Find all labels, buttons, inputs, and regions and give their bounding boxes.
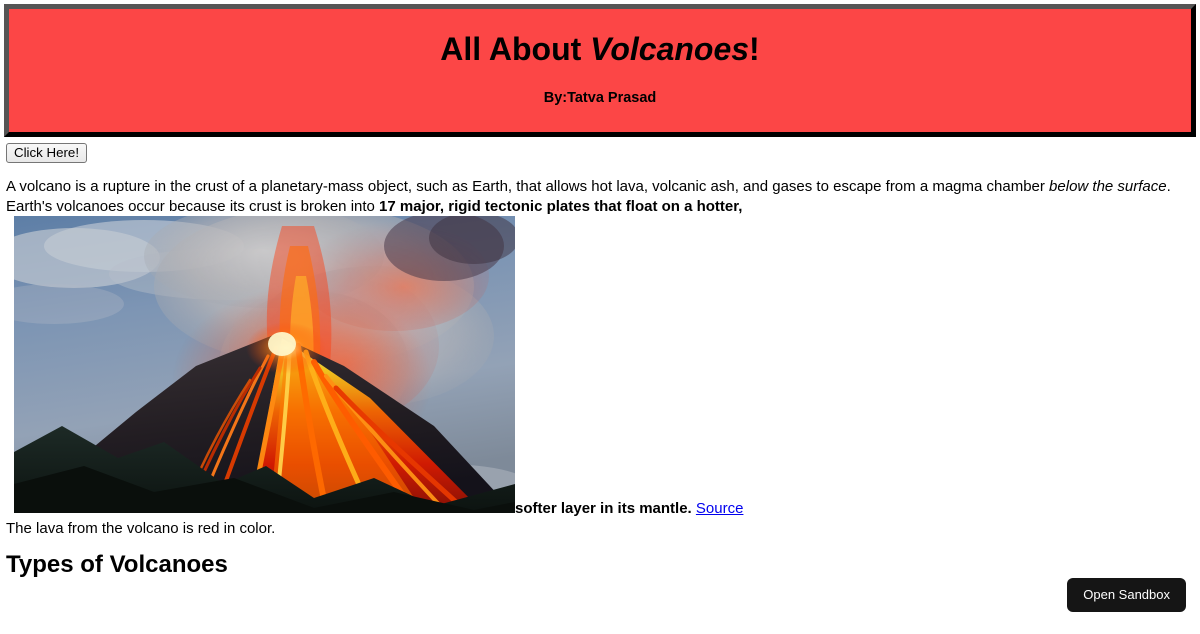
click-here-button[interactable]: Click Here! [6, 143, 87, 163]
intro-paragraph: A volcano is a rupture in the crust of a… [0, 163, 1196, 519]
intro-text-part1: A volcano is a rupture in the crust of a… [6, 178, 1049, 195]
page-title-emphasis: Volcanoes [590, 31, 749, 67]
lava-color-word: red [198, 520, 220, 537]
page-title-suffix: ! [749, 31, 760, 67]
volcano-eruption-image [14, 216, 515, 513]
page-title: All About Volcanoes! [9, 23, 1191, 68]
lava-line-after: in color. [219, 520, 275, 537]
intro-bold-phrase-1: 17 major, rigid tectonic plates that flo… [379, 198, 742, 215]
intro-italic-phrase: below the surface [1049, 178, 1167, 195]
open-sandbox-button[interactable]: Open Sandbox [1067, 578, 1186, 612]
button-row: Click Here! [0, 137, 1200, 163]
page-subtitle: By:Tatva Prasad [9, 68, 1191, 106]
intro-bold-phrase-2: softer layer in its mantle. [515, 500, 692, 517]
lava-line-before: The lava from the volcano is [6, 520, 198, 537]
page-title-prefix: All About [440, 31, 590, 67]
page-banner: All About Volcanoes! By:Tatva Prasad [4, 4, 1196, 137]
lava-color-line: The lava from the volcano is red in colo… [0, 519, 1200, 539]
section-heading-types: Types of Volcanoes [0, 538, 1200, 578]
source-link[interactable]: Source [696, 500, 744, 517]
